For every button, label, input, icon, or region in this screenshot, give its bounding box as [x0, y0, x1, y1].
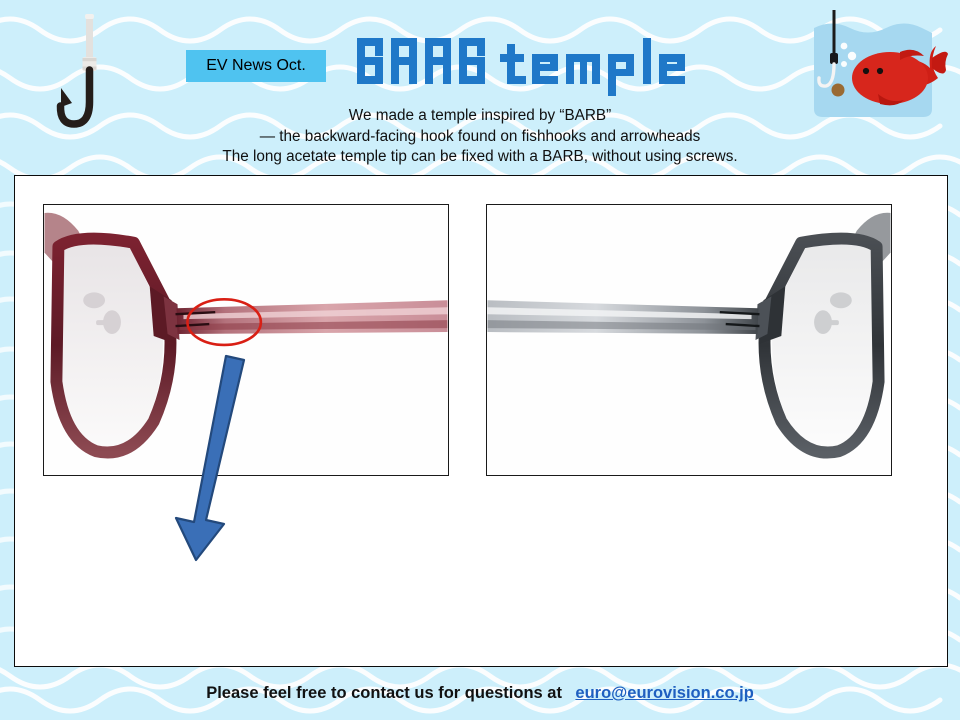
subtitle-line-1: We made a temple inspired by “BARB”	[80, 106, 880, 127]
photo-charcoal-frame	[486, 204, 892, 476]
footer: Please feel free to contact us for quest…	[0, 684, 960, 703]
photo-burgundy-frame	[43, 204, 449, 476]
subtitle-line-2: — the backward-facing hook found on fish…	[80, 127, 880, 148]
content-panel: Small barbs are added near the joint of …	[14, 175, 948, 667]
news-badge: EV News Oct.	[186, 50, 326, 82]
poster-page: EV News Oct.	[0, 0, 960, 720]
footer-text: Please feel free to contact us for quest…	[206, 684, 562, 702]
news-badge-label: EV News Oct.	[206, 57, 306, 75]
page-title: BARB temple	[355, 34, 755, 96]
contact-email-link[interactable]: euro@eurovision.co.jp	[575, 684, 753, 702]
subtitle-block: We made a temple inspired by “BARB” — th…	[80, 106, 880, 168]
subtitle-line-3: The long acetate temple tip can be fixed…	[80, 147, 880, 168]
